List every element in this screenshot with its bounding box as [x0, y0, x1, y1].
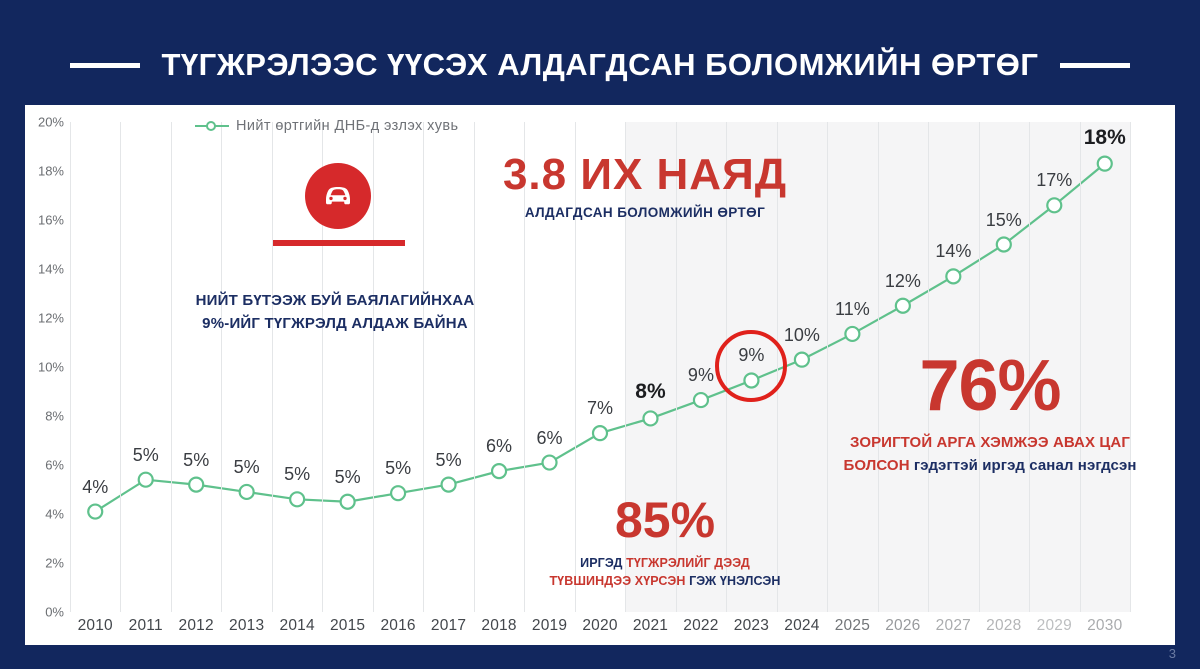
- data-point-label: 5%: [183, 450, 209, 471]
- gridline: [373, 122, 374, 612]
- y-axis-tick-label: 18%: [20, 164, 64, 179]
- data-point-marker[interactable]: [492, 464, 506, 478]
- gridline: [221, 122, 222, 612]
- page-title: ТҮГЖРЭЛЭЭС ҮҮСЭХ АЛДАГДСАН БОЛОМЖИЙН ӨРТ…: [162, 47, 1039, 83]
- x-axis-tick-label: 2010: [78, 617, 113, 635]
- data-point-marker[interactable]: [1098, 157, 1112, 171]
- data-point-marker[interactable]: [543, 456, 557, 470]
- y-axis-tick-label: 0%: [20, 605, 64, 620]
- data-point-label: 5%: [284, 464, 310, 485]
- gridline: [171, 122, 172, 612]
- data-point-marker[interactable]: [341, 495, 355, 509]
- slide-header: ТҮГЖРЭЛЭЭС ҮҮСЭХ АЛДАГДСАН БОЛОМЖИЙН ӨРТ…: [0, 34, 1200, 96]
- pct85-l1b: ТҮГЖРЭЛИЙГ ДЭЭД: [626, 556, 750, 570]
- callout-left: НИЙТ БҮТЭЭЖ БУЙ БАЯЛАГИЙНХАА 9%-ИЙГ ТҮГЖ…: [175, 290, 495, 335]
- pct76-l1: ЗОРИГТОЙ АРГА ХЭМЖЭЭ АВАХ ЦАГ: [805, 432, 1175, 455]
- data-point-label: 8%: [635, 380, 665, 404]
- data-point-label: 6%: [537, 428, 563, 449]
- data-point-label: 5%: [133, 445, 159, 466]
- data-point-marker[interactable]: [593, 426, 607, 440]
- y-axis-tick-label: 12%: [20, 311, 64, 326]
- data-point-label: 9%: [688, 365, 714, 386]
- legend-marker-icon: [195, 120, 229, 132]
- data-point-label: 7%: [587, 398, 613, 419]
- data-point-marker[interactable]: [896, 299, 910, 313]
- page-number: 3: [1169, 646, 1176, 661]
- data-point-marker[interactable]: [139, 473, 153, 487]
- x-axis-tick-label: 2023: [734, 617, 769, 635]
- callout-85: 85% ИРГЭД ТҮГЖРЭЛИЙГ ДЭЭД ТҮВШИНДЭЭ ХҮРС…: [540, 495, 790, 590]
- car-front-icon: [305, 163, 371, 229]
- data-point-marker[interactable]: [845, 327, 859, 341]
- x-axis-tick-label: 2025: [835, 617, 870, 635]
- data-point-marker[interactable]: [694, 393, 708, 407]
- data-point-label: 17%: [1036, 170, 1072, 191]
- y-axis-tick-label: 10%: [20, 360, 64, 375]
- y-axis-tick-label: 20%: [20, 115, 64, 130]
- data-point-label: 4%: [82, 477, 108, 498]
- gridline: [120, 122, 121, 612]
- highlight-ring: [715, 330, 787, 402]
- callout-trillion: 3.8 ИХ НАЯД АЛДАГДСАН БОЛОМЖИЙН ӨРТӨГ: [480, 152, 810, 220]
- pct85-l2a: ТҮВШИНДЭЭ ХҮРСЭН: [549, 574, 689, 588]
- pct85-caption: ИРГЭД ТҮГЖРЭЛИЙГ ДЭЭД ТҮВШИНДЭЭ ХҮРСЭН Г…: [540, 554, 790, 590]
- x-axis: 2010201120122013201420152016201720182019…: [70, 617, 1130, 645]
- data-point-marker[interactable]: [290, 492, 304, 506]
- data-point-label: 10%: [784, 325, 820, 346]
- gridline: [70, 122, 71, 612]
- slide: ТҮГЖРЭЛЭЭС ҮҮСЭХ АЛДАГДСАН БОЛОМЖИЙН ӨРТ…: [0, 0, 1200, 669]
- header-rule-right: [1060, 63, 1130, 68]
- x-axis-tick-label: 2028: [986, 617, 1021, 635]
- x-axis-tick-label: 2017: [431, 617, 466, 635]
- x-axis-tick-label: 2020: [582, 617, 617, 635]
- header-rule-left: [70, 63, 140, 68]
- x-axis-tick-label: 2015: [330, 617, 365, 635]
- data-point-label: 15%: [986, 210, 1022, 231]
- x-axis-tick-label: 2021: [633, 617, 668, 635]
- data-point-marker[interactable]: [391, 486, 405, 500]
- pct76-l2b: гэдэгтэй иргэд санал нэгдсэн: [914, 457, 1137, 474]
- data-point-marker[interactable]: [442, 478, 456, 492]
- x-axis-tick-label: 2013: [229, 617, 264, 635]
- trillion-value: 3.8 ИХ НАЯД: [480, 152, 810, 198]
- y-axis-tick-label: 6%: [20, 458, 64, 473]
- data-point-marker[interactable]: [88, 505, 102, 519]
- data-point-marker[interactable]: [240, 485, 254, 499]
- data-point-label: 5%: [335, 467, 361, 488]
- data-point-marker[interactable]: [946, 269, 960, 283]
- data-point-label: 18%: [1084, 126, 1126, 150]
- data-point-marker[interactable]: [643, 411, 657, 425]
- chart-card: 0%2%4%6%8%10%12%14%16%18%20% 4%5%5%5%5%5…: [25, 105, 1175, 645]
- data-point-label: 5%: [436, 450, 462, 471]
- x-axis-tick-label: 2022: [683, 617, 718, 635]
- y-axis-tick-label: 2%: [20, 556, 64, 571]
- x-axis-tick-label: 2012: [179, 617, 214, 635]
- x-axis-tick-label: 2024: [784, 617, 819, 635]
- pct85-value: 85%: [540, 495, 790, 545]
- trillion-subtitle: АЛДАГДСАН БОЛОМЖИЙН ӨРТӨГ: [480, 205, 810, 220]
- gridline: [272, 122, 273, 612]
- data-point-label: 5%: [234, 457, 260, 478]
- pct76-caption: ЗОРИГТОЙ АРГА ХЭМЖЭЭ АВАХ ЦАГ БОЛСОН гэд…: [805, 432, 1175, 477]
- callout-left-line1: НИЙТ БҮТЭЭЖ БУЙ БАЯЛАГИЙНХАА: [175, 290, 495, 313]
- pct76-l2a: БОЛСОН: [843, 457, 913, 474]
- y-axis-tick-label: 14%: [20, 262, 64, 277]
- x-axis-tick-label: 2029: [1037, 617, 1072, 635]
- callout-76: 76% ЗОРИГТОЙ АРГА ХЭМЖЭЭ АВАХ ЦАГ БОЛСОН…: [805, 350, 1175, 477]
- y-axis-tick-label: 8%: [20, 409, 64, 424]
- data-point-marker[interactable]: [997, 238, 1011, 252]
- x-axis-tick-label: 2030: [1087, 617, 1122, 635]
- data-point-label: 11%: [835, 299, 870, 320]
- gridline: [423, 122, 424, 612]
- pct85-l2b: ГЭЖ ҮНЭЛСЭН: [689, 574, 781, 588]
- x-axis-tick-label: 2014: [279, 617, 314, 635]
- x-axis-tick-label: 2016: [380, 617, 415, 635]
- data-point-label: 5%: [385, 458, 411, 479]
- data-point-marker[interactable]: [189, 478, 203, 492]
- data-point-marker[interactable]: [1047, 198, 1061, 212]
- y-axis-tick-label: 4%: [20, 507, 64, 522]
- pct85-l1a: ИРГЭД: [580, 556, 626, 570]
- x-axis-tick-label: 2018: [481, 617, 516, 635]
- gridline: [474, 122, 475, 612]
- data-point-label: 12%: [885, 271, 921, 292]
- x-axis-tick-label: 2026: [885, 617, 920, 635]
- y-axis-tick-label: 16%: [20, 213, 64, 228]
- data-point-label: 6%: [486, 436, 512, 457]
- pct76-value: 76%: [805, 350, 1175, 422]
- data-point-label: 14%: [935, 241, 971, 262]
- chart-legend[interactable]: Нийт өртгийн ДНБ-д эзлэх хувь: [195, 118, 459, 134]
- x-axis-tick-label: 2027: [936, 617, 971, 635]
- car-accent-rule: [273, 240, 405, 246]
- x-axis-tick-label: 2019: [532, 617, 567, 635]
- legend-label: Нийт өртгийн ДНБ-д эзлэх хувь: [236, 118, 459, 134]
- x-axis-tick-label: 2011: [129, 617, 163, 635]
- callout-left-line2: 9%-ИЙГ ТҮГЖРЭЛД АЛДАЖ БАЙНА: [175, 313, 495, 336]
